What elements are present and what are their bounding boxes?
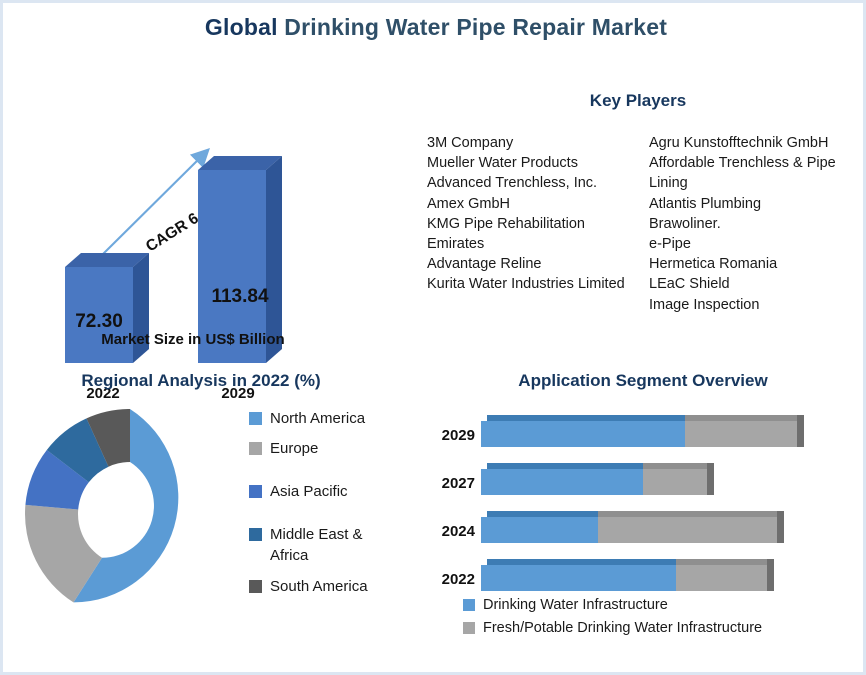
key-player-item: Kurita Water Industries Limited bbox=[427, 274, 642, 294]
key-players-right-column: Agru Kunstofftechnik GmbH Affordable Tre… bbox=[649, 133, 864, 315]
legend-swatch-icon bbox=[249, 580, 262, 593]
legend-item-middle-east-africa: Middle East & Africa bbox=[249, 524, 399, 566]
app-bar-2029-blue bbox=[481, 421, 685, 447]
key-player-item: Mueller Water Products bbox=[427, 153, 642, 173]
key-players-left-column: 3M Company Mueller Water Products Advanc… bbox=[427, 133, 642, 295]
bar-2029-value: 113.84 bbox=[190, 286, 290, 308]
key-player-item: Hermetica Romania bbox=[649, 254, 864, 274]
app-bar-2029-endcap bbox=[797, 415, 804, 447]
legend-label: North America bbox=[270, 408, 365, 429]
legend-label: Asia Pacific bbox=[270, 481, 348, 502]
app-bar-2029 bbox=[481, 421, 803, 447]
key-player-item: Affordable Trenchless & Pipe Lining bbox=[649, 153, 864, 193]
key-player-item: Agru Kunstofftechnik GmbH bbox=[649, 133, 864, 153]
regional-donut-chart bbox=[15, 399, 245, 629]
app-bar-2027-blue bbox=[481, 469, 643, 495]
legend-item-north-america: North America bbox=[249, 408, 399, 429]
app-bar-2027 bbox=[481, 469, 713, 495]
app-row-label-2022: 2022 bbox=[419, 571, 475, 588]
legend-label: Fresh/Potable Drinking Water Infrastruct… bbox=[483, 620, 762, 636]
infographic-page: Global Drinking Water Pipe Repair Market… bbox=[0, 0, 866, 675]
market-size-axis-label: Market Size in US$ Billion bbox=[63, 331, 323, 348]
app-row-label-2024: 2024 bbox=[419, 523, 475, 540]
legend-label: Europe bbox=[270, 438, 318, 459]
key-player-item: Advantage Reline bbox=[427, 254, 642, 274]
key-players-heading: Key Players bbox=[433, 91, 843, 111]
app-bar-2022-blue bbox=[481, 565, 676, 591]
legend-label: Middle East & Africa bbox=[270, 524, 399, 566]
app-bar-2024 bbox=[481, 517, 783, 543]
legend-swatch-icon bbox=[249, 412, 262, 425]
app-bar-2029-gray bbox=[685, 421, 797, 447]
legend-swatch-icon bbox=[249, 528, 262, 541]
regional-legend: North America Europe Asia Pacific Middle… bbox=[249, 408, 399, 606]
app-bar-2027-endcap bbox=[707, 463, 714, 495]
bar-2022-value: 72.30 bbox=[53, 311, 145, 333]
page-title-rest: Drinking Water Pipe Repair Market bbox=[284, 14, 667, 40]
app-legend-item-fresh-potable: Fresh/Potable Drinking Water Infrastruct… bbox=[463, 620, 863, 636]
key-player-item: Advanced Trenchless, Inc. bbox=[427, 173, 642, 193]
app-bar-2022 bbox=[481, 565, 773, 591]
app-row-label-2027: 2027 bbox=[419, 475, 475, 492]
app-legend-item-drinking-water: Drinking Water Infrastructure bbox=[463, 597, 863, 613]
application-segment-chart: 2029 2027 2024 2022 bbox=[419, 399, 859, 594]
bar-2022: 72.30 bbox=[65, 253, 171, 378]
key-player-item: 3M Company bbox=[427, 133, 642, 153]
legend-item-europe: Europe bbox=[249, 438, 399, 459]
legend-item-south-america: South America bbox=[249, 576, 399, 597]
key-player-item: e-Pipe bbox=[649, 234, 864, 254]
page-title: Global Drinking Water Pipe Repair Market bbox=[3, 13, 866, 42]
legend-swatch-icon bbox=[249, 485, 262, 498]
app-bar-2024-gray bbox=[598, 517, 777, 543]
legend-swatch-icon bbox=[463, 622, 475, 634]
legend-label: Drinking Water Infrastructure bbox=[483, 597, 668, 613]
legend-swatch-icon bbox=[249, 442, 262, 455]
legend-swatch-icon bbox=[463, 599, 475, 611]
app-bar-2022-endcap bbox=[767, 559, 774, 591]
key-player-item: Image Inspection bbox=[649, 295, 864, 315]
legend-label: South America bbox=[270, 576, 368, 597]
application-segment-heading: Application Segment Overview bbox=[423, 371, 863, 391]
regional-analysis-heading: Regional Analysis in 2022 (%) bbox=[11, 371, 391, 391]
key-player-item: LEaC Shield bbox=[649, 274, 864, 294]
legend-item-asia-pacific: Asia Pacific bbox=[249, 481, 399, 502]
key-player-item: KMG Pipe Rehabilitation Emirates bbox=[427, 214, 642, 254]
market-size-chart: CAGR 6.7% 72.30 113.84 2022 2029 bbox=[43, 113, 403, 363]
application-legend: Drinking Water Infrastructure Fresh/Pota… bbox=[463, 597, 863, 643]
page-title-lead: Global bbox=[205, 14, 278, 40]
app-row-label-2029: 2029 bbox=[419, 427, 475, 444]
app-bar-2024-endcap bbox=[777, 511, 784, 543]
app-bar-2022-gray bbox=[676, 565, 767, 591]
key-player-item: Brawoliner. bbox=[649, 214, 864, 234]
app-bar-2024-blue bbox=[481, 517, 598, 543]
key-player-item: Atlantis Plumbing bbox=[649, 194, 864, 214]
key-player-item: Amex GmbH bbox=[427, 194, 642, 214]
app-bar-2027-gray bbox=[643, 469, 707, 495]
donut-svg bbox=[15, 399, 245, 629]
